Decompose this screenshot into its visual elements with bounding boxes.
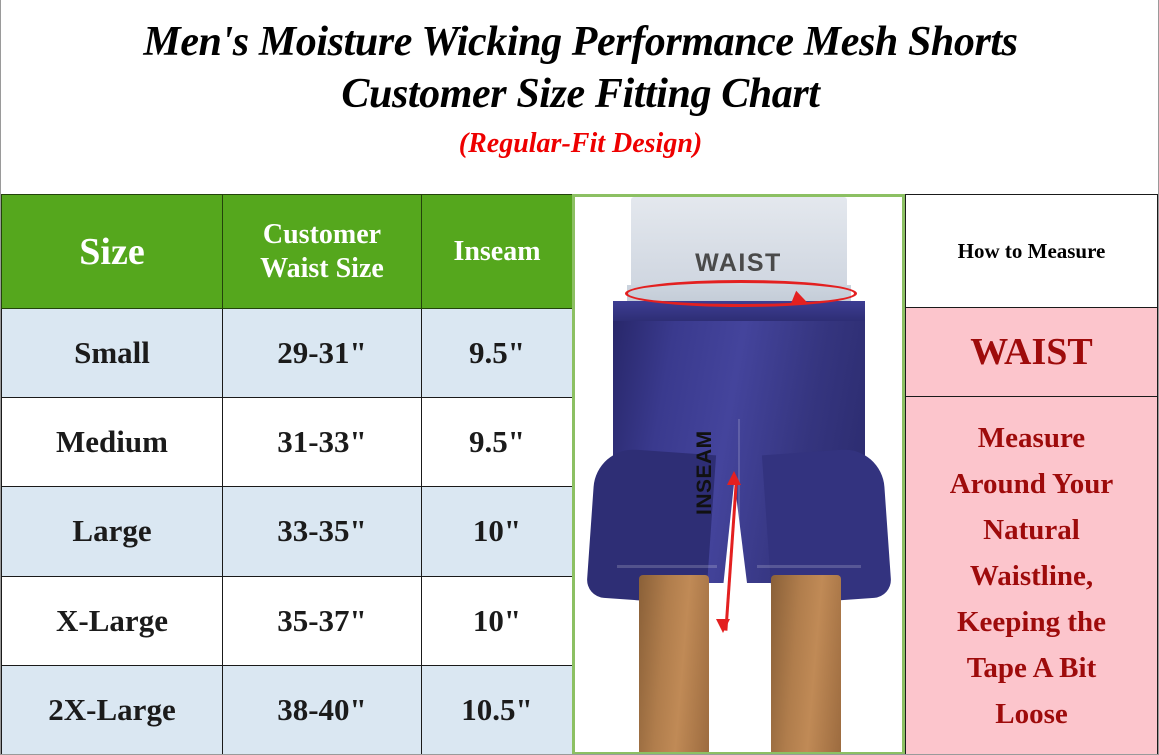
cell-inseam: 9.5": [422, 309, 573, 398]
product-photo: WAIST INSEAM: [575, 197, 902, 752]
table-row: Large 33-35" 10": [2, 487, 573, 576]
cell-size: Medium: [2, 398, 223, 487]
waist-measure-ellipse-icon: [625, 280, 857, 307]
size-table: Size Customer Waist Size Inseam Small 29…: [1, 194, 573, 755]
page-title-line-1: Men's Moisture Wicking Performance Mesh …: [143, 16, 1017, 68]
column-header-waist-line-2: Waist Size: [260, 253, 384, 284]
table-header-row: Size Customer Waist Size Inseam: [2, 195, 573, 309]
cell-size: 2X-Large: [2, 665, 223, 754]
measure-instructions: Measure Around Your Natural Waistline, K…: [905, 396, 1158, 755]
inseam-annotation-label: INSEAM: [693, 430, 717, 515]
cell-waist: 31-33": [223, 398, 422, 487]
cell-size: Small: [2, 309, 223, 398]
model-left-leg: [639, 575, 709, 752]
inseam-arrow-up-icon: [727, 471, 741, 485]
cell-waist: 38-40": [223, 665, 422, 754]
column-header-inseam: Inseam: [422, 195, 573, 309]
table-row: X-Large 35-37" 10": [2, 576, 573, 665]
model-right-leg: [771, 575, 841, 752]
cell-waist: 35-37": [223, 576, 422, 665]
product-photo-cell: WAIST INSEAM: [572, 194, 905, 755]
cell-waist: 33-35": [223, 487, 422, 576]
cell-size: X-Large: [2, 576, 223, 665]
instruction-line: Measure: [978, 415, 1085, 461]
instruction-line: Natural: [983, 507, 1080, 553]
instruction-line: Around Your: [950, 461, 1114, 507]
how-to-measure-heading: How to Measure: [905, 194, 1158, 308]
page-title-line-2: Customer Size Fitting Chart: [341, 68, 819, 120]
cell-inseam: 9.5": [422, 398, 573, 487]
inseam-arrow-down-icon: [716, 619, 730, 633]
column-header-waist-line-1: Customer: [263, 219, 381, 250]
size-table-head: Size Customer Waist Size Inseam: [2, 195, 573, 309]
shorts-right-hem: [757, 565, 861, 568]
column-header-size: Size: [2, 195, 223, 309]
instruction-line: Waistline,: [970, 553, 1093, 599]
cell-waist: 29-31": [223, 309, 422, 398]
instruction-line: Keeping the: [957, 599, 1106, 645]
table-row: 2X-Large 38-40" 10.5": [2, 665, 573, 754]
page-subtitle: (Regular-Fit Design): [459, 127, 702, 161]
cell-inseam: 10": [422, 487, 573, 576]
size-table-body: Small 29-31" 9.5" Medium 31-33" 9.5" Lar…: [2, 309, 573, 755]
size-chart-page: Men's Moisture Wicking Performance Mesh …: [0, 0, 1159, 755]
instruction-line: Tape A Bit: [967, 645, 1096, 691]
how-to-measure-panel: How to Measure WAIST Measure Around Your…: [905, 194, 1158, 755]
instruction-line: Loose: [995, 691, 1068, 737]
table-row: Medium 31-33" 9.5": [2, 398, 573, 487]
column-header-waist: Customer Waist Size: [223, 195, 422, 309]
cell-size: Large: [2, 487, 223, 576]
cell-inseam: 10.5": [422, 665, 573, 754]
waist-annotation-label: WAIST: [575, 249, 902, 278]
chart-body: Size Customer Waist Size Inseam Small 29…: [1, 192, 1159, 755]
table-row: Small 29-31" 9.5": [2, 309, 573, 398]
title-block: Men's Moisture Wicking Performance Mesh …: [1, 0, 1159, 192]
measure-subject-waist: WAIST: [905, 307, 1158, 397]
shorts-left-hem: [617, 565, 717, 568]
cell-inseam: 10": [422, 576, 573, 665]
